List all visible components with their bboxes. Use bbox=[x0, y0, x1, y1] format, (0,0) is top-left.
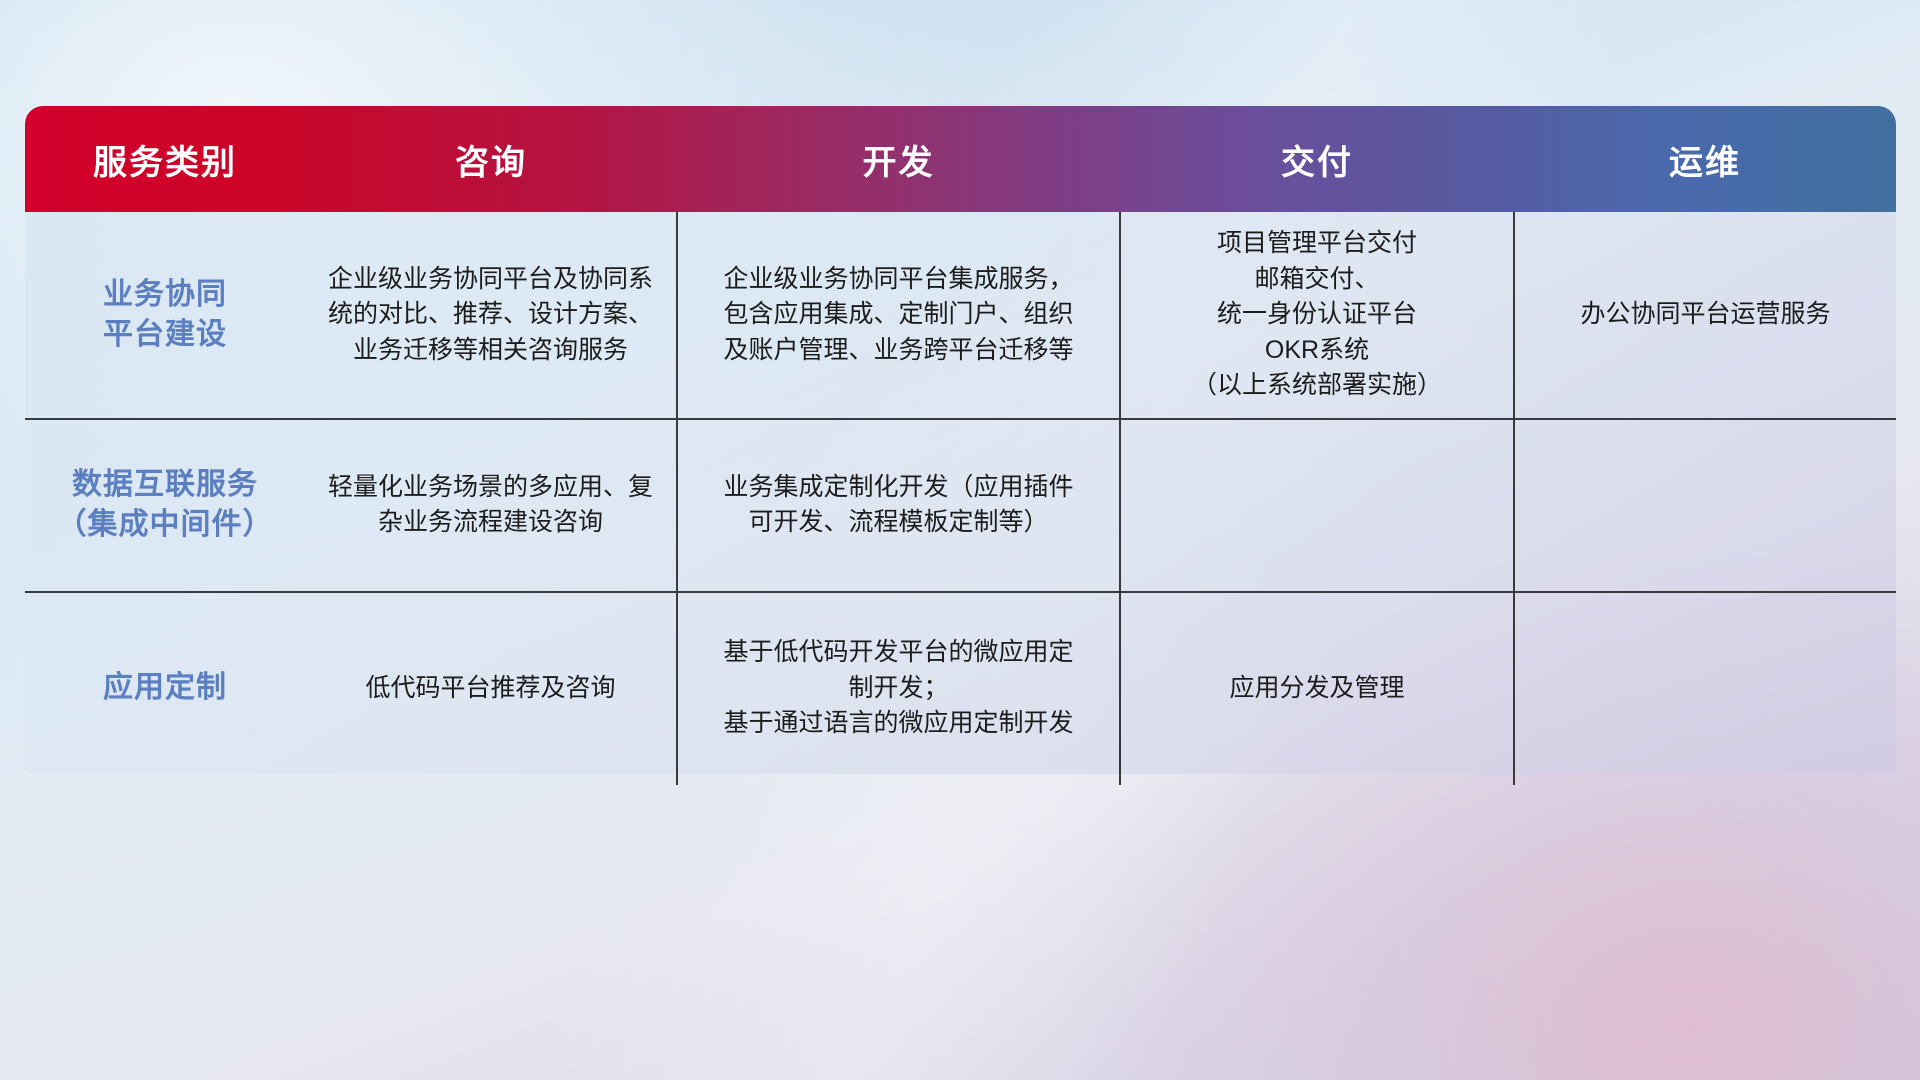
column-header-delivery[interactable]: 交付 bbox=[1120, 106, 1514, 212]
table-row: 业务协同 平台建设 企业级业务协同平台及协同系 统的对比、推荐、设计方案、 业务… bbox=[25, 212, 1896, 419]
header-row: 服务类别 咨询 开发 交付 运维 bbox=[25, 106, 1896, 212]
cell-row1-consulting: 企业级业务协同平台及协同系 统的对比、推荐、设计方案、 业务迁移等相关咨询服务 bbox=[305, 212, 677, 419]
table-row: 应用定制 低代码平台推荐及咨询 基于低代码开发平台的微应用定 制开发； 基于通过… bbox=[25, 592, 1896, 785]
cell-row1-delivery: 项目管理平台交付 邮箱交付、 统一身份认证平台 OKR系统 （以上系统部署实施） bbox=[1120, 212, 1514, 419]
row-label-app-customization: 应用定制 bbox=[25, 592, 305, 785]
cell-row3-development: 基于低代码开发平台的微应用定 制开发； 基于通过语言的微应用定制开发 bbox=[677, 592, 1120, 785]
cell-row3-operations bbox=[1514, 592, 1896, 785]
column-header-category[interactable]: 服务类别 bbox=[25, 106, 305, 212]
row-label-business-collaboration: 业务协同 平台建设 bbox=[25, 212, 305, 419]
cell-row1-development: 企业级业务协同平台集成服务， 包含应用集成、定制门户、组织 及账户管理、业务跨平… bbox=[677, 212, 1120, 419]
service-matrix: 服务类别 咨询 开发 交付 运维 业务协同 平台建设 企业级业务协同平台及协同系… bbox=[25, 106, 1896, 785]
cell-row1-operations: 办公协同平台运营服务 bbox=[1514, 212, 1896, 419]
column-header-consulting[interactable]: 咨询 bbox=[305, 106, 677, 212]
table-body: 业务协同 平台建设 企业级业务协同平台及协同系 统的对比、推荐、设计方案、 业务… bbox=[25, 212, 1896, 785]
cell-row2-delivery bbox=[1120, 419, 1514, 592]
row-label-data-interconnect: 数据互联服务 （集成中间件） bbox=[25, 419, 305, 592]
cell-row3-consulting: 低代码平台推荐及咨询 bbox=[305, 592, 677, 785]
cell-row2-consulting: 轻量化业务场景的多应用、复 杂业务流程建设咨询 bbox=[305, 419, 677, 592]
table-row: 数据互联服务 （集成中间件） 轻量化业务场景的多应用、复 杂业务流程建设咨询 业… bbox=[25, 419, 1896, 592]
column-header-operations[interactable]: 运维 bbox=[1514, 106, 1896, 212]
service-matrix-table: 服务类别 咨询 开发 交付 运维 业务协同 平台建设 企业级业务协同平台及协同系… bbox=[25, 106, 1896, 774]
cell-row2-operations bbox=[1514, 419, 1896, 592]
table-header: 服务类别 咨询 开发 交付 运维 bbox=[25, 106, 1896, 212]
cell-row3-delivery: 应用分发及管理 bbox=[1120, 592, 1514, 785]
cell-row2-development: 业务集成定制化开发（应用插件 可开发、流程模板定制等） bbox=[677, 419, 1120, 592]
column-header-development[interactable]: 开发 bbox=[677, 106, 1120, 212]
